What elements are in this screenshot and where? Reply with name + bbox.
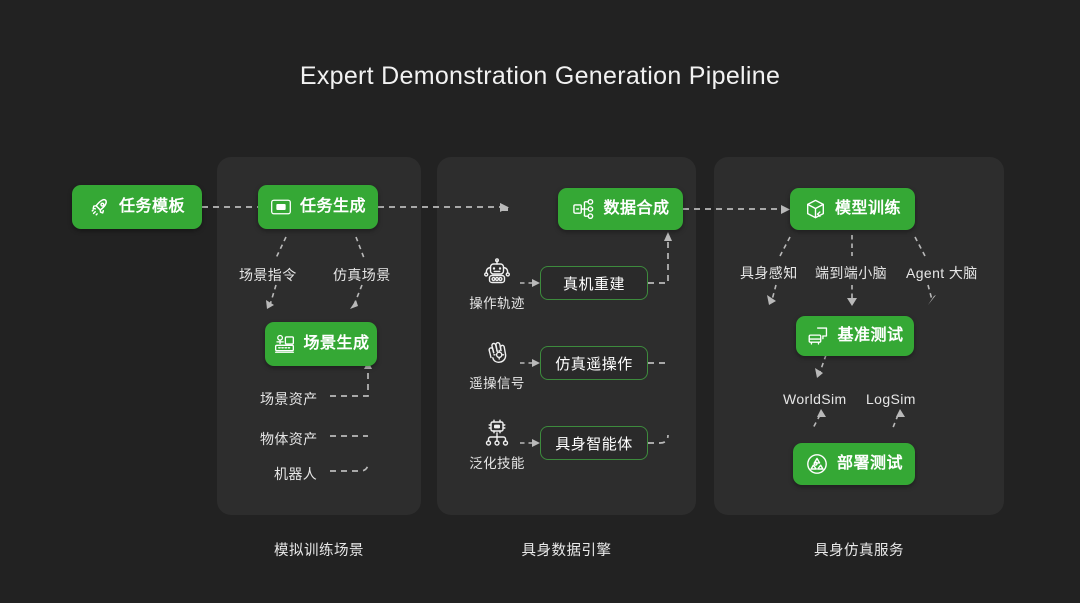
node-data-synthesis[interactable]: 数据合成 (558, 188, 683, 230)
edge-label-simulated-scene: 仿真场景 (333, 265, 391, 285)
source-label: 遥操信号 (462, 372, 532, 392)
node-task-generation[interactable]: PL 任务生成 (258, 185, 378, 229)
node-benchmark-test[interactable]: 基准测试 (796, 316, 914, 356)
edge-label-worldsim: WorldSim (783, 391, 847, 407)
source-label: 操作轨迹 (462, 292, 532, 312)
node-deployment-test[interactable]: 部署测试 (793, 443, 915, 485)
group-teleop-signal: 遥操信号 (462, 338, 532, 392)
node-model-training[interactable]: 模型训练 (790, 188, 915, 230)
diagram-canvas: Expert Demonstration Generation Pipeline (0, 0, 1080, 603)
robot-icon (462, 258, 532, 290)
group-generalization-skill: 泛化技能 (462, 418, 532, 472)
node-label: 仿真遥操作 (555, 353, 633, 374)
recycle-icon (805, 452, 829, 476)
node-label: 场景生成 (304, 336, 370, 352)
panel-caption-simulation-training-scenario: 模拟训练场景 (217, 539, 421, 560)
glove-icon (462, 338, 532, 370)
workbench-icon (273, 333, 296, 355)
edge-label-agent-brain: Agent 大脑 (906, 263, 978, 283)
node-simulated-teleoperation[interactable]: 仿真遥操作 (540, 346, 648, 380)
input-label-scene-asset: 场景资产 (260, 389, 318, 409)
chip-icon (462, 418, 532, 450)
page-title: Expert Demonstration Generation Pipeline (0, 62, 1080, 91)
group-operation-trajectory: 操作轨迹 (462, 258, 532, 312)
node-label: 模型训练 (835, 201, 901, 217)
monitor-icon (807, 325, 830, 347)
node-label: 部署测试 (837, 456, 903, 472)
node-task-template[interactable]: 任务模板 (72, 185, 202, 229)
node-embodied-agent[interactable]: 具身智能体 (540, 426, 648, 460)
node-label: 真机重建 (563, 273, 625, 294)
source-label: 泛化技能 (462, 452, 532, 472)
edge-label-embodied-perception: 具身感知 (740, 263, 798, 283)
rocket-icon (89, 196, 111, 218)
node-label: 任务模板 (119, 199, 185, 215)
node-label: 数据合成 (604, 201, 670, 217)
edge-label-scene-instruction: 场景指令 (239, 265, 297, 285)
edge-label-end-to-end-cerebellum: 端到端小脑 (815, 263, 887, 283)
svg-text:PL: PL (278, 205, 285, 211)
node-label: 具身智能体 (555, 433, 633, 454)
input-label-object-asset: 物体资产 (260, 429, 318, 449)
data-flow-icon (572, 198, 596, 220)
panel-caption-embodied-data-engine: 具身数据引擎 (437, 539, 696, 560)
input-label-robot: 机器人 (274, 464, 317, 484)
edge-label-logsim: LogSim (866, 391, 916, 407)
panel-caption-embodied-simulation-service: 具身仿真服务 (714, 539, 1004, 560)
node-label: 任务生成 (300, 199, 366, 215)
cube-icon (804, 198, 827, 220)
node-scene-generation[interactable]: 场景生成 (265, 322, 377, 366)
pl-badge-icon: PL (270, 197, 292, 217)
node-label: 基准测试 (838, 328, 904, 344)
node-real-machine-reconstruction[interactable]: 真机重建 (540, 266, 648, 300)
